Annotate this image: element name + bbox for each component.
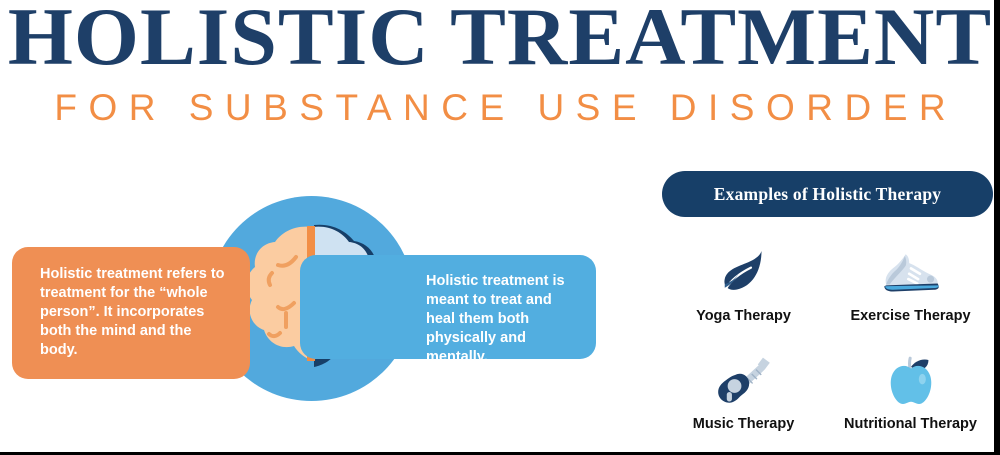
page-subtitle: FOR SUBSTANCE USE DISORDER bbox=[0, 88, 1000, 128]
page-title: HOLISTIC TREATMENT bbox=[0, 0, 1000, 80]
apple-icon bbox=[872, 348, 950, 412]
therapy-label-exercise: Exercise Therapy bbox=[850, 308, 970, 324]
therapy-item-nutritional[interactable]: Nutritional Therapy bbox=[827, 348, 994, 455]
therapy-label-nutritional: Nutritional Therapy bbox=[844, 416, 977, 432]
therapy-icon-grid: Yoga Therapy Exercise Therapy bbox=[660, 240, 994, 455]
callout-left: Holistic treatment refers to treatment f… bbox=[12, 247, 250, 379]
therapy-label-yoga: Yoga Therapy bbox=[696, 308, 791, 324]
guitar-icon bbox=[705, 348, 783, 412]
sneaker-icon bbox=[872, 240, 950, 304]
leaf-icon bbox=[705, 240, 783, 304]
therapy-item-exercise[interactable]: Exercise Therapy bbox=[827, 240, 994, 348]
infographic-canvas: HOLISTIC TREATMENT FOR SUBSTANCE USE DIS… bbox=[0, 0, 1000, 455]
callout-right: Holistic treatment is meant to treat and… bbox=[300, 255, 596, 359]
therapy-item-music[interactable]: Music Therapy bbox=[660, 348, 827, 455]
examples-heading-label: Examples of Holistic Therapy bbox=[714, 184, 941, 205]
right-edge-bar bbox=[994, 0, 1000, 455]
therapy-label-music: Music Therapy bbox=[693, 416, 795, 432]
examples-heading-pill: Examples of Holistic Therapy bbox=[662, 171, 993, 217]
therapy-item-yoga[interactable]: Yoga Therapy bbox=[660, 240, 827, 348]
